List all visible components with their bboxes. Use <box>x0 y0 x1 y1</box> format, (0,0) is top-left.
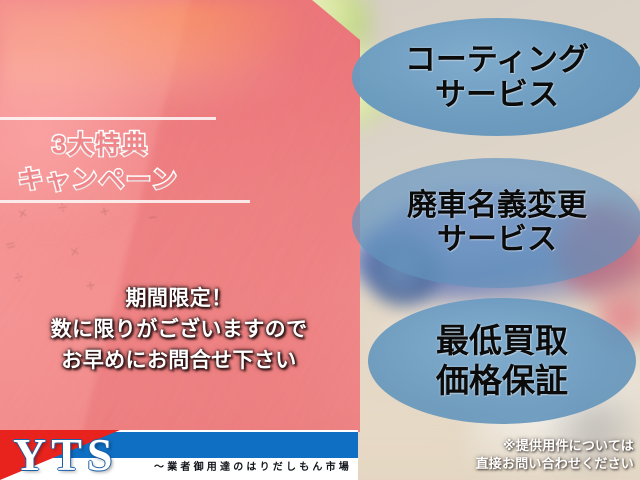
benefit-bubble-price-guarantee-line-2: 価格保証 <box>436 363 568 399</box>
campaign-banner: × ÷ + − = × ÷ + 3大特典 キャンペーン 期間限定！ 数に限りがご… <box>0 0 640 480</box>
logo-tagline: 〜業者御用達のはりだしもん市場 <box>154 458 352 473</box>
benefit-bubble-coating-line-2: サービス <box>435 78 559 111</box>
footnote-line-2: 直接お問い合わせください <box>476 455 634 473</box>
footnote-line-1: ※提供用件については <box>476 437 634 455</box>
headline-line-1: 3大特典 <box>52 133 149 158</box>
benefit-bubble-scrap-transfer: 廃車名義変更 サービス <box>352 158 640 288</box>
headline-rule-bottom <box>0 200 250 203</box>
logo-bar: YTS 〜業者御用達のはりだしもん市場 <box>0 430 358 480</box>
headline-rule-top <box>0 117 216 120</box>
footnote: ※提供用件については 直接お問い合わせください <box>476 437 634 473</box>
benefit-bubble-price-guarantee-line-1: 最低買取 <box>436 323 568 359</box>
benefit-bubble-coating-line-1: コーティング <box>405 43 589 76</box>
benefit-bubble-coating: コーティング サービス <box>352 18 640 136</box>
benefit-bubble-price-guarantee: 最低買取 価格保証 <box>368 298 636 424</box>
benefit-bubble-scrap-transfer-line-2: サービス <box>437 224 557 256</box>
promo-text-line-2: 数に限りがございますので <box>0 314 358 345</box>
promo-text-line-3: お早めにお問合せ下さい <box>0 345 358 376</box>
benefit-bubble-scrap-transfer-line-1: 廃車名義変更 <box>407 190 587 222</box>
promo-text-line-1: 期間限定！ <box>0 283 358 314</box>
promo-panel: × ÷ + − = × ÷ + 3大特典 キャンペーン 期間限定！ 数に限りがご… <box>0 0 360 432</box>
headline-line-2: キャンペーン <box>18 168 179 193</box>
logo-wordmark: YTS <box>13 431 117 479</box>
